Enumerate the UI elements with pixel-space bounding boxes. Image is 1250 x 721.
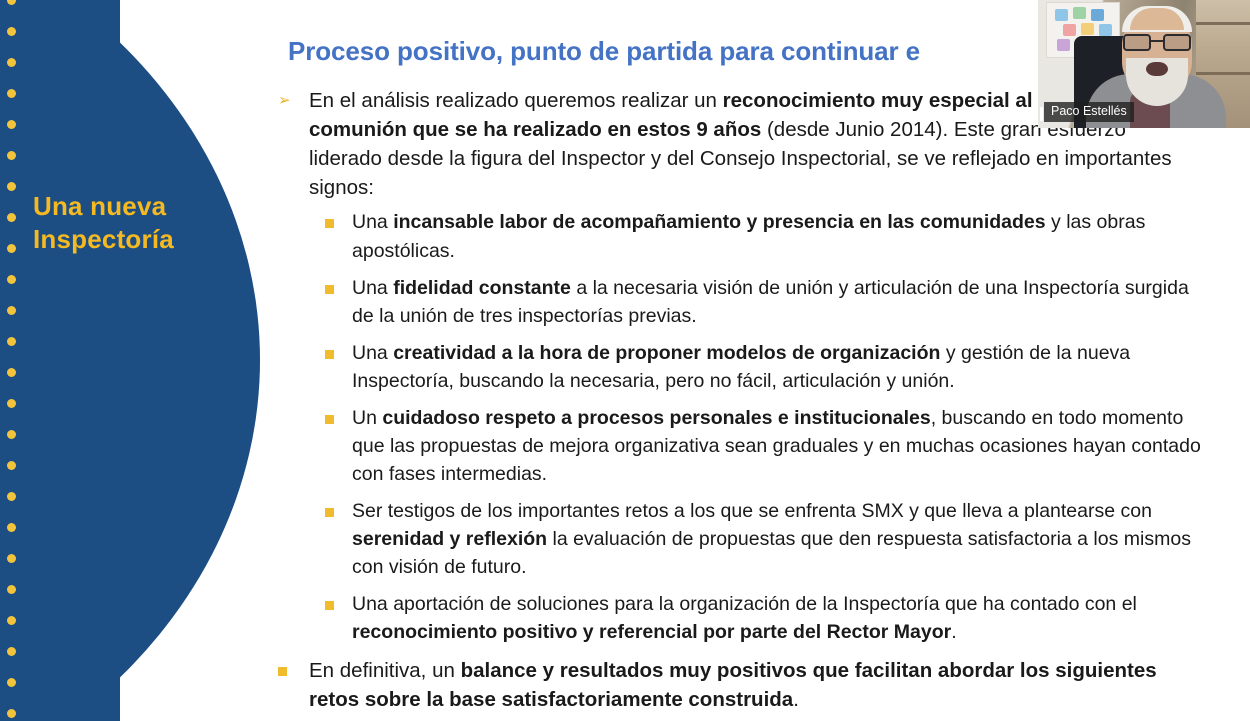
list-item-text: Una creatividad a la hora de proponer mo… xyxy=(352,339,1203,395)
decorative-dot xyxy=(7,678,16,687)
poster-shape xyxy=(1081,23,1094,35)
square-bullet-icon xyxy=(325,508,334,517)
decorative-dot xyxy=(7,585,16,594)
decorative-dot xyxy=(7,616,16,625)
glasses-bridge xyxy=(1151,40,1163,42)
sidebar-title-line-2: Inspectoría xyxy=(33,223,248,256)
item-part1: Ser testigos de los importantes retos a … xyxy=(352,500,1152,522)
decorative-dot-column xyxy=(3,0,19,721)
decorative-dot xyxy=(7,58,16,67)
square-bullet-icon xyxy=(278,667,287,676)
list-item: Una fidelidad constante a la necesaria v… xyxy=(325,274,1203,330)
poster-shape xyxy=(1055,9,1068,21)
video-person-mouth xyxy=(1146,62,1168,76)
square-bullet-icon xyxy=(325,350,334,359)
item-bold: serenidad y reflexión xyxy=(352,528,547,550)
presentation-slide: Una nueva Inspectoría Proceso positivo, … xyxy=(0,0,1250,721)
shelf-line xyxy=(1196,22,1250,25)
slide-body: ➢ En el análisis realizado queremos real… xyxy=(278,86,1203,714)
decorative-dot xyxy=(7,399,16,408)
item-part1: Una xyxy=(352,277,393,299)
glasses-lens-left xyxy=(1123,34,1151,51)
decorative-dot xyxy=(7,492,16,501)
list-item-text: Una aportación de soluciones para la org… xyxy=(352,590,1203,646)
list-item: Una creatividad a la hora de proponer mo… xyxy=(325,339,1203,395)
decorative-dot xyxy=(7,0,16,5)
sidebar-title-line-1: Una nueva xyxy=(33,190,248,223)
decorative-dot xyxy=(7,120,16,129)
decorative-dot xyxy=(7,647,16,656)
list-item-text: Una fidelidad constante a la necesaria v… xyxy=(352,274,1203,330)
square-bullet-icon xyxy=(325,415,334,424)
list-item: Ser testigos de los importantes retos a … xyxy=(325,497,1203,581)
decorative-dot xyxy=(7,523,16,532)
list-item-text: Una incansable labor de acompañamiento y… xyxy=(352,208,1203,264)
list-item: Una aportación de soluciones para la org… xyxy=(325,590,1203,646)
intro-text-part1: En el análisis realizado queremos realiz… xyxy=(309,89,723,112)
list-item-text: Ser testigos de los importantes retos a … xyxy=(352,497,1203,581)
decorative-dot xyxy=(7,337,16,346)
decorative-dot xyxy=(7,306,16,315)
video-participant-tile[interactable]: Paco Estellés xyxy=(1038,0,1250,128)
eyeglasses-icon xyxy=(1123,34,1191,51)
list-item: Un cuidadoso respeto a procesos personal… xyxy=(325,404,1203,488)
closing-paragraph: En definitiva, un balance y resultados m… xyxy=(278,656,1203,714)
decorative-dot xyxy=(7,244,16,253)
item-bold: incansable labor de acompañamiento y pre… xyxy=(393,211,1045,233)
microphone-indicator-icon xyxy=(1040,107,1043,121)
decorative-dot xyxy=(7,554,16,563)
sidebar-curved-shape xyxy=(0,0,260,721)
decorative-dot xyxy=(7,182,16,191)
poster-shape xyxy=(1063,24,1076,36)
square-bullet-icon xyxy=(325,219,334,228)
decorative-dot xyxy=(7,151,16,160)
item-part1: Una aportación de soluciones para la org… xyxy=(352,593,1137,615)
item-bold: creatividad a la hora de proponer modelo… xyxy=(393,342,940,364)
decorative-dot xyxy=(7,27,16,36)
item-part1: Un xyxy=(352,407,382,429)
closing-paragraph-text: En definitiva, un balance y resultados m… xyxy=(309,656,1203,714)
square-bullet-icon xyxy=(325,285,334,294)
glasses-lens-right xyxy=(1163,34,1191,51)
decorative-dot xyxy=(7,275,16,284)
item-bold: cuidadoso respeto a procesos personales … xyxy=(382,407,930,429)
item-part1: Una xyxy=(352,211,393,233)
decorative-dot xyxy=(7,213,16,222)
list-item-text: Un cuidadoso respeto a procesos personal… xyxy=(352,404,1203,488)
item-bold: fidelidad constante xyxy=(393,277,571,299)
poster-shape xyxy=(1091,9,1104,21)
decorative-dot xyxy=(7,461,16,470)
decorative-dot xyxy=(7,430,16,439)
shelf-line xyxy=(1196,72,1250,75)
decorative-dot xyxy=(7,709,16,718)
sidebar-section-title: Una nueva Inspectoría xyxy=(33,190,248,257)
item-part2: . xyxy=(951,621,956,643)
video-participant-name: Paco Estellés xyxy=(1044,102,1134,122)
poster-shape xyxy=(1057,39,1070,51)
arrow-bullet-icon: ➢ xyxy=(278,93,298,108)
decorative-dot xyxy=(7,368,16,377)
decorative-dot xyxy=(7,89,16,98)
item-part1: Una xyxy=(352,342,393,364)
poster-shape xyxy=(1073,7,1086,19)
closing-part2: . xyxy=(793,688,799,711)
poster-shape xyxy=(1099,24,1112,36)
closing-part1: En definitiva, un xyxy=(309,659,461,682)
list-item: Una incansable labor de acompañamiento y… xyxy=(325,208,1203,264)
item-bold: reconocimiento positivo y referencial po… xyxy=(352,621,951,643)
sub-bullet-list: Una incansable labor de acompañamiento y… xyxy=(325,208,1203,646)
square-bullet-icon xyxy=(325,601,334,610)
